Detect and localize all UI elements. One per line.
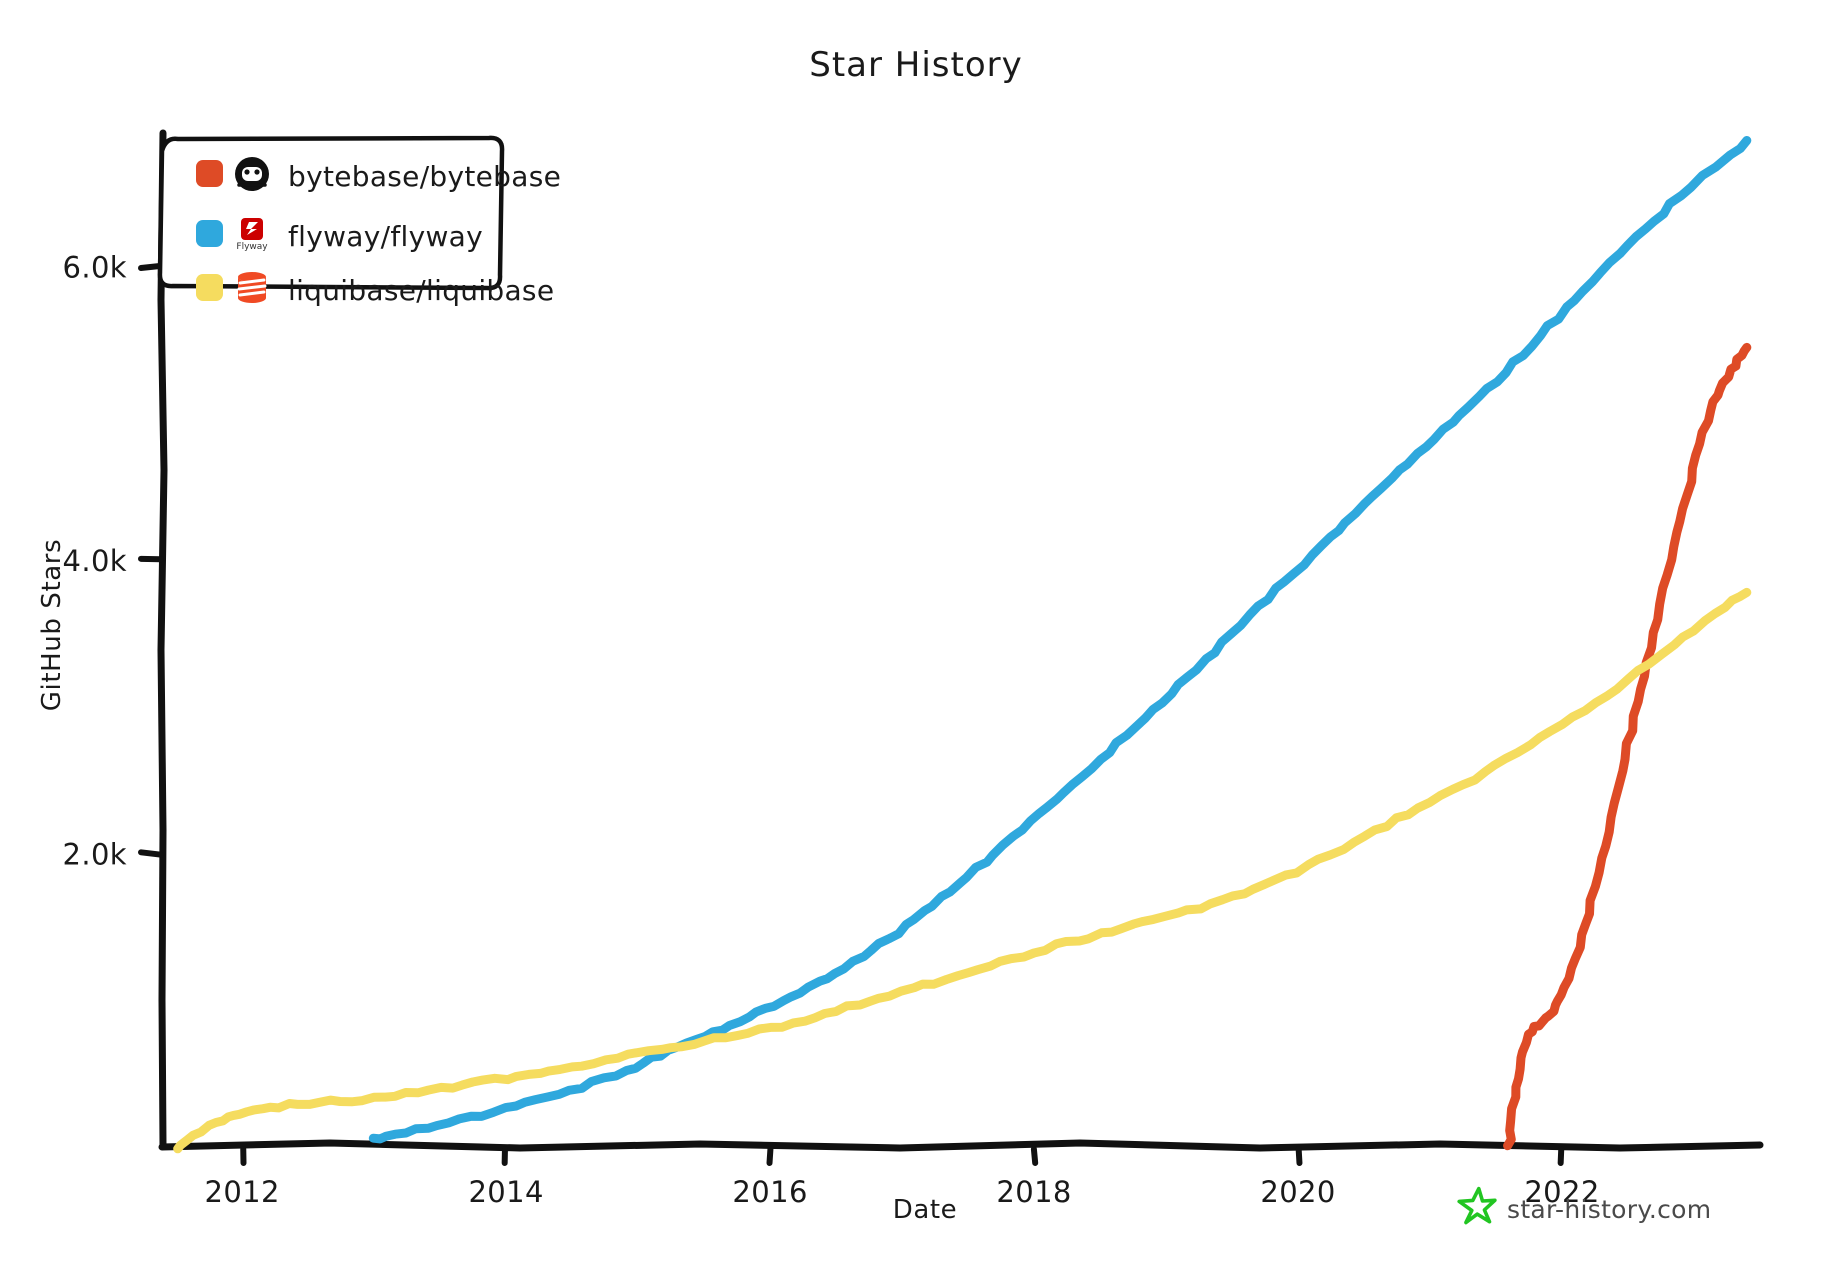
y-axis-tick-labels: 2.0k4.0k6.0k xyxy=(62,251,127,872)
y-axis-title: GitHub Stars xyxy=(37,539,67,711)
chart-canvas: Star History 2.0k4.0k6.0k 20122014201620… xyxy=(0,0,1832,1276)
y-tick-label: 6.0k xyxy=(62,251,127,285)
legend-label: bytebase/bytebase xyxy=(288,160,561,193)
x-axis-title: Date xyxy=(893,1195,958,1225)
legend-item[interactable]: bytebase/bytebase xyxy=(196,157,561,193)
series-line-bytebase xyxy=(1508,347,1747,1145)
x-tick-label: 2018 xyxy=(996,1175,1071,1209)
svg-text:Flyway: Flyway xyxy=(236,242,268,252)
page-title: Star History xyxy=(809,45,1023,85)
x-tick-label: 2014 xyxy=(468,1175,543,1209)
x-tick-label: 2016 xyxy=(732,1175,807,1209)
legend-label: liquibase/liquibase xyxy=(288,274,554,307)
star-history-star-icon xyxy=(1459,1189,1495,1223)
x-tick-label: 2012 xyxy=(204,1175,279,1209)
legend-item[interactable]: liquibase/liquibase xyxy=(196,272,554,307)
watermark-label: star-history.com xyxy=(1507,1195,1711,1224)
legend-swatch xyxy=(196,160,223,187)
series-line-liquibase xyxy=(178,592,1747,1148)
x-tick-label: 2020 xyxy=(1260,1175,1335,1209)
liquibase-logo-icon xyxy=(238,272,266,303)
legend-label: flyway/flyway xyxy=(288,220,483,253)
legend-swatch xyxy=(196,274,223,301)
star-history-chart: Star History 2.0k4.0k6.0k 20122014201620… xyxy=(0,0,1832,1276)
series-line-flyway xyxy=(373,141,1747,1139)
x-axis-line xyxy=(162,1143,1760,1148)
y-axis-ticks xyxy=(141,266,161,855)
y-tick-label: 4.0k xyxy=(62,544,127,578)
legend-swatch xyxy=(196,220,223,247)
y-tick-label: 2.0k xyxy=(62,838,127,872)
bytebase-logo-icon xyxy=(235,157,269,191)
legend[interactable]: bytebase/bytebaseFlywayflyway/flywayliqu… xyxy=(160,138,561,307)
